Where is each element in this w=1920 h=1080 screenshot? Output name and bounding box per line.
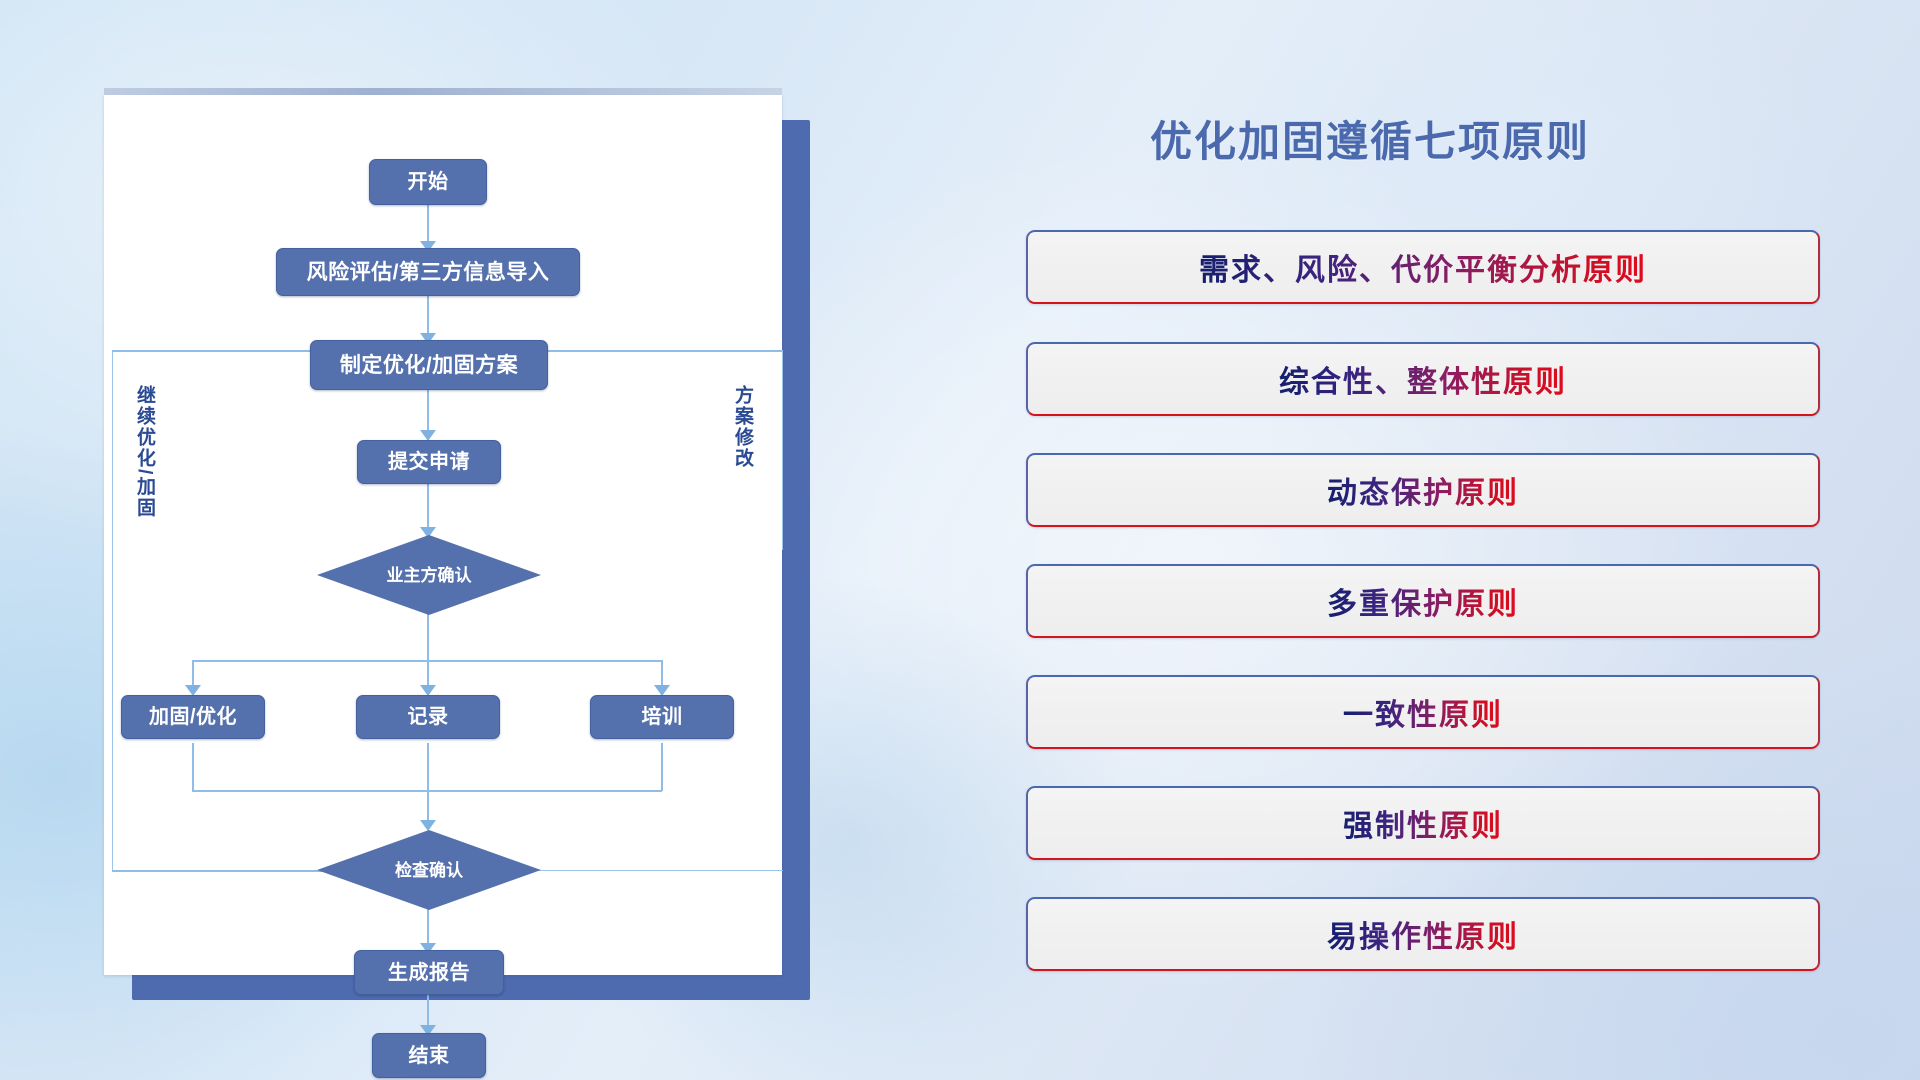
- flow-node-make-plan[interactable]: 制定优化/加固方案: [310, 340, 548, 390]
- principle-label: 动态保护原则: [1327, 468, 1519, 512]
- edge-label-continue-optimize: 继续优化/加固: [134, 385, 154, 565]
- principle-label: 多重保护原则: [1327, 579, 1519, 623]
- edge-right-loop-into-plan: [534, 350, 782, 352]
- flow-node-training[interactable]: 培训: [590, 695, 734, 739]
- flow-node-generate-report[interactable]: 生成报告: [354, 950, 504, 995]
- flowchart-card: 开始 风险评估/第三方信息导入 制定优化/加固方案 提交申请 业主方确认 加固/…: [104, 95, 782, 975]
- flow-node-record[interactable]: 记录: [356, 695, 500, 739]
- flow-node-submit-application[interactable]: 提交申请: [357, 440, 501, 484]
- flow-node-start[interactable]: 开始: [369, 159, 487, 205]
- edge-training-merge: [661, 743, 663, 791]
- principle-item-3[interactable]: 动态保护原则: [1026, 453, 1820, 527]
- principle-item-7[interactable]: 易操作性原则: [1026, 897, 1820, 971]
- principle-item-4[interactable]: 多重保护原则: [1026, 564, 1820, 638]
- edge-reinforce-merge: [192, 743, 194, 791]
- flow-node-end[interactable]: 结束: [372, 1033, 486, 1078]
- edge-record-check: [427, 743, 429, 827]
- panel-title: 优化加固遵循七项原则: [1150, 108, 1590, 169]
- edge-owner-bus: [427, 613, 429, 661]
- edge-check-left-loop: [112, 870, 338, 872]
- flow-node-risk-assessment[interactable]: 风险评估/第三方信息导入: [276, 248, 580, 296]
- card-top-band: [104, 88, 782, 95]
- principle-label: 强制性原则: [1343, 801, 1503, 845]
- principle-label: 易操作性原则: [1327, 912, 1519, 956]
- principle-item-2[interactable]: 综合性、整体性原则: [1026, 342, 1820, 416]
- feedback-loop-frame-right: [634, 350, 783, 550]
- principle-item-5[interactable]: 一致性原则: [1026, 675, 1820, 749]
- principle-item-6[interactable]: 强制性原则: [1026, 786, 1820, 860]
- principle-item-1[interactable]: 需求、风险、代价平衡分析原则: [1026, 230, 1820, 304]
- flow-node-reinforce-optimize[interactable]: 加固/优化: [121, 695, 265, 739]
- edge-record-check-arrow: [420, 820, 436, 831]
- principle-label: 需求、风险、代价平衡分析原则: [1199, 245, 1647, 289]
- principles-panel: 优化加固遵循七项原则 需求、风险、代价平衡分析原则 综合性、整体性原则 动态保护…: [1000, 90, 1840, 1000]
- edge-label-plan-revision: 方案修改: [732, 385, 752, 505]
- principle-label: 一致性原则: [1343, 690, 1503, 734]
- principle-label: 综合性、整体性原则: [1279, 357, 1567, 401]
